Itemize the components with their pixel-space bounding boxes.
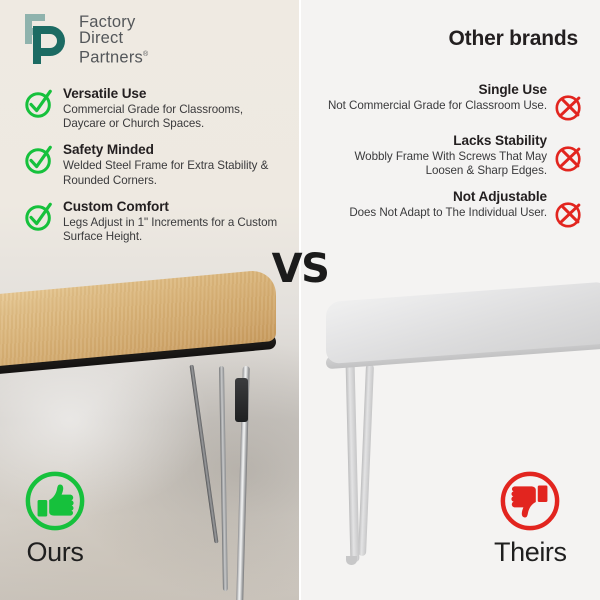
thumbs-up-icon (24, 470, 86, 532)
feature-title: Single Use (314, 82, 547, 98)
feature-description: Does Not Adapt to The Individual User. (314, 206, 547, 220)
logo-line-2: Direct (79, 30, 148, 46)
comparison-infographic: Factory Direct Partners® Other brands Ve… (0, 0, 600, 600)
feature-text: Custom Comfort Legs Adjust in 1" Increme… (63, 199, 282, 244)
brand-logo[interactable]: Factory Direct Partners® (24, 12, 148, 66)
thumbs-down-icon (499, 470, 561, 532)
check-circle-icon (24, 145, 54, 175)
versus-label: VS (0, 246, 600, 292)
our-verdict: Ours (24, 470, 86, 567)
x-circle-icon (554, 92, 584, 122)
feature-title: Lacks Stability (314, 133, 547, 149)
feature-description: Welded Steel Frame for Extra Stability &… (63, 159, 282, 187)
our-feature-list: Versatile Use Commercial Grade for Class… (24, 86, 282, 255)
feature-text: Not Adjustable Does Not Adapt to The Ind… (314, 189, 547, 220)
feature-title: Safety Minded (63, 142, 282, 158)
logo-line-1: Factory (79, 14, 148, 30)
feature-item: Single Use Not Commercial Grade for Clas… (314, 82, 584, 122)
panel-divider (299, 0, 301, 600)
feature-description: Wobbly Frame With Screws That May Loosen… (314, 150, 547, 178)
registered-mark: ® (143, 51, 148, 58)
our-verdict-label: Ours (27, 537, 84, 567)
their-feature-list: Single Use Not Commercial Grade for Clas… (314, 82, 584, 240)
check-circle-icon (24, 202, 54, 232)
feature-item: Not Adjustable Does Not Adapt to The Ind… (314, 189, 584, 229)
logo-line-3-text: Partners (79, 48, 143, 66)
logo-line-3: Partners® (79, 47, 148, 66)
feature-text: Single Use Not Commercial Grade for Clas… (314, 82, 547, 113)
feature-description: Commercial Grade for Classrooms, Daycare… (63, 103, 282, 131)
feature-item: Versatile Use Commercial Grade for Class… (24, 86, 282, 131)
fp-monogram-icon (24, 12, 70, 66)
brand-wordmark: Factory Direct Partners® (79, 12, 148, 66)
check-circle-icon (24, 89, 54, 119)
x-circle-icon (554, 143, 584, 173)
feature-description: Not Commercial Grade for Classroom Use. (314, 99, 547, 113)
feature-text: Versatile Use Commercial Grade for Class… (63, 86, 282, 131)
their-verdict-label: Theirs (494, 537, 567, 567)
x-circle-icon (554, 199, 584, 229)
other-brands-heading: Other brands (449, 27, 578, 51)
feature-item: Safety Minded Welded Steel Frame for Ext… (24, 142, 282, 187)
our-leg-clamp (235, 378, 248, 422)
feature-text: Safety Minded Welded Steel Frame for Ext… (63, 142, 282, 187)
feature-title: Not Adjustable (314, 189, 547, 205)
feature-item: Lacks Stability Wobbly Frame With Screws… (314, 133, 584, 178)
their-product-image (326, 292, 600, 402)
feature-item: Custom Comfort Legs Adjust in 1" Increme… (24, 199, 282, 244)
their-verdict: Theirs (494, 470, 567, 567)
feature-description: Legs Adjust in 1" Increments for a Custo… (63, 216, 282, 244)
their-leg-foot (346, 556, 357, 565)
feature-title: Versatile Use (63, 86, 282, 102)
feature-title: Custom Comfort (63, 199, 282, 215)
our-product-image (0, 282, 286, 392)
feature-text: Lacks Stability Wobbly Frame With Screws… (314, 133, 547, 178)
